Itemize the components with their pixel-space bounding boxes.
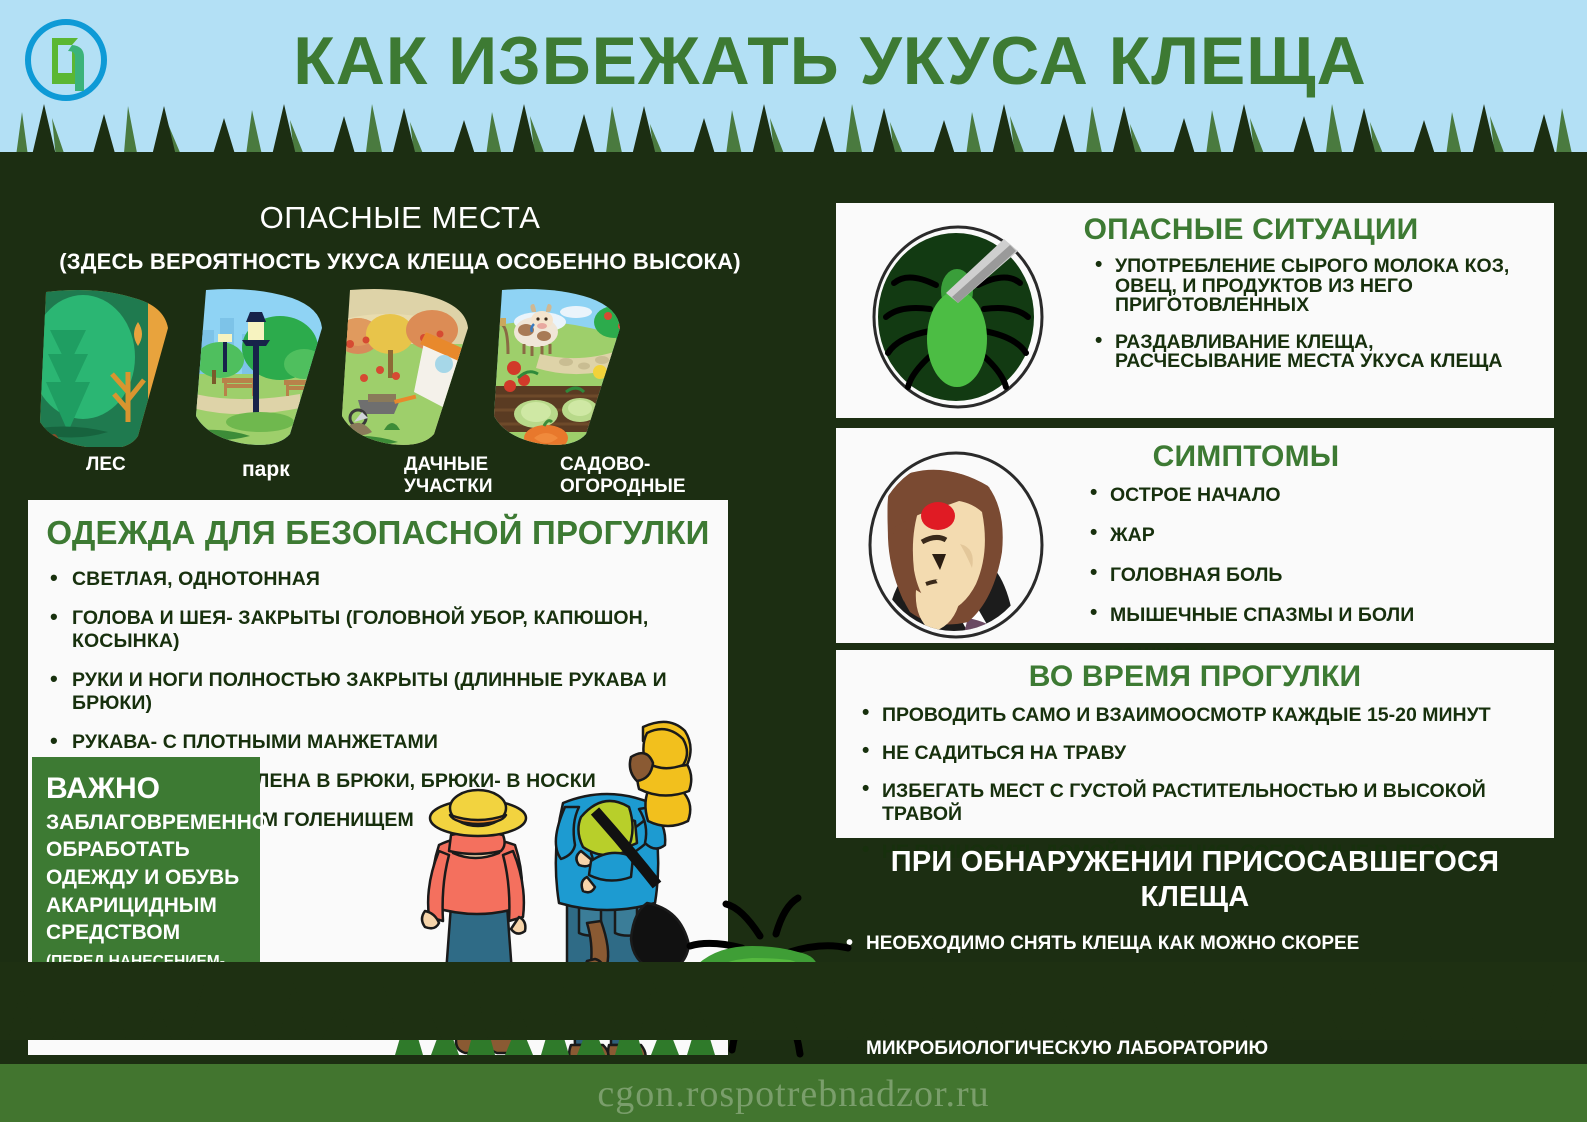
dangerous-situations-title: ОПАСНЫЕ СИТУАЦИИ [1016, 213, 1486, 247]
symptoms-title: СИМПТОМЫ [1026, 440, 1466, 474]
place-forest: ЛЕС [28, 282, 198, 487]
dangerous-places-list: ЛЕС [28, 282, 788, 487]
page-title: КАК ИЗБЕЖАТЬ УКУСА КЛЕЩА [170, 16, 1490, 106]
if-found-title: ПРИ ОБНАРУЖЕНИИ ПРИСОСАВШЕГОСЯ КЛЕЩА [836, 845, 1554, 916]
list-item: МЫШЕЧНЫЕ СПАЗМЫ И БОЛИ [1086, 604, 1554, 627]
dangerous-places-heading: ОПАСНЫЕ МЕСТА [30, 200, 770, 236]
dangerous-places-subheading: (ЗДЕСЬ ВЕРОЯТНОСТЬ УКУСА КЛЕЩА ОСОБЕННО … [30, 249, 770, 275]
clothing-title: ОДЕЖДА ДЛЯ БЕЗОПАСНОЙ ПРОГУЛКИ [28, 514, 728, 552]
symptoms-list: ОСТРОЕ НАЧАЛО ЖАР ГОЛОВНАЯ БОЛЬ МЫШЕЧНЫЕ… [1086, 484, 1554, 667]
list-item: ЖАР [1086, 524, 1554, 547]
list-item: ГОЛОВА И ШЕЯ- ЗАКРЫТЫ (ГОЛОВНОЙ УБОР, КА… [46, 607, 728, 653]
list-item: СВЕТЛАЯ, ОДНОТОННАЯ [46, 568, 728, 591]
tick-tweezers-icon [868, 225, 1048, 410]
during-walk-list: ПРОВОДИТЬ САМО И ВЗАИМООСМОТР КАЖДЫЕ 15-… [858, 704, 1554, 864]
park-illustration [180, 282, 350, 447]
list-item: РАЗДАВЛИВАНИЕ КЛЕЩА, РАСЧЕСЫВАНИЕ МЕСТА … [1091, 333, 1536, 372]
grass-top-decoration [0, 104, 1587, 200]
during-walk-title: ВО ВРЕМЯ ПРОГУЛКИ [836, 660, 1554, 694]
sick-person-icon [864, 450, 1049, 640]
during-walk-card: ВО ВРЕМЯ ПРОГУЛКИ ПРОВОДИТЬ САМО И ВЗАИМ… [836, 650, 1554, 838]
dangerous-situations-card: ОПАСНЫЕ СИТУАЦИИ УПОТРЕБЛЕНИЕ СЫРОГО МОЛ… [836, 203, 1554, 418]
important-body: ЗАБЛАГОВРЕМЕННО ОБРАБОТАТЬ ОДЕЖДУ И ОБУВ… [46, 809, 246, 948]
important-title: ВАЖНО [46, 773, 246, 805]
footer-watermark: cgon.rospotrebnadzor.ru [0, 1068, 1587, 1120]
list-item: НЕОБХОДИМО СНЯТЬ КЛЕЩА КАК МОЖНО СКОРЕЕ [842, 930, 1554, 959]
place-dacha: ДАЧНЫЕ УЧАСТКИ [328, 282, 498, 487]
place-garden: САДОВО-ОГОРОДНЫЕ УЧАСТКИ [480, 282, 650, 487]
garden-illustration [480, 282, 650, 447]
forest-illustration [28, 282, 198, 447]
dacha-illustration [328, 282, 498, 447]
dangerous-places-header: ОПАСНЫЕ МЕСТА (ЗДЕСЬ ВЕРОЯТНОСТЬ УКУСА К… [30, 200, 770, 275]
symptoms-card: СИМПТОМЫ ОСТРОЕ НАЧАЛО ЖАР ГОЛОВНАЯ БОЛЬ… [836, 428, 1554, 643]
list-item: ГОЛОВНАЯ БОЛЬ [1086, 564, 1554, 587]
list-item: ОСТРОЕ НАЧАЛО [1086, 484, 1554, 507]
list-item: УПОТРЕБЛЕНИЕ СЫРОГО МОЛОКА КОЗ, ОВЕЦ, И … [1091, 257, 1536, 316]
list-item: НЕ САДИТЬСЯ НА ТРАВУ [858, 742, 1554, 765]
list-item: ИЗБЕГАТЬ МЕСТ С ГУСТОЙ РАСТИТЕЛЬНОСТЬЮ И… [858, 780, 1554, 826]
list-item: ПРОВОДИТЬ САМО И ВЗАИМООСМОТР КАЖДЫЕ 15-… [858, 704, 1554, 727]
dangerous-situations-list: УПОТРЕБЛЕНИЕ СЫРОГО МОЛОКА КОЗ, ОВЕЦ, И … [1091, 257, 1536, 372]
grass-bottom-decoration [0, 962, 1587, 1082]
poster-root: КАК ИЗБЕЖАТЬ УКУСА КЛЕЩА ОПАСНЫЕ МЕСТА (… [0, 0, 1587, 1122]
cgon-logo-icon [22, 16, 110, 104]
place-park: парк [180, 282, 350, 487]
